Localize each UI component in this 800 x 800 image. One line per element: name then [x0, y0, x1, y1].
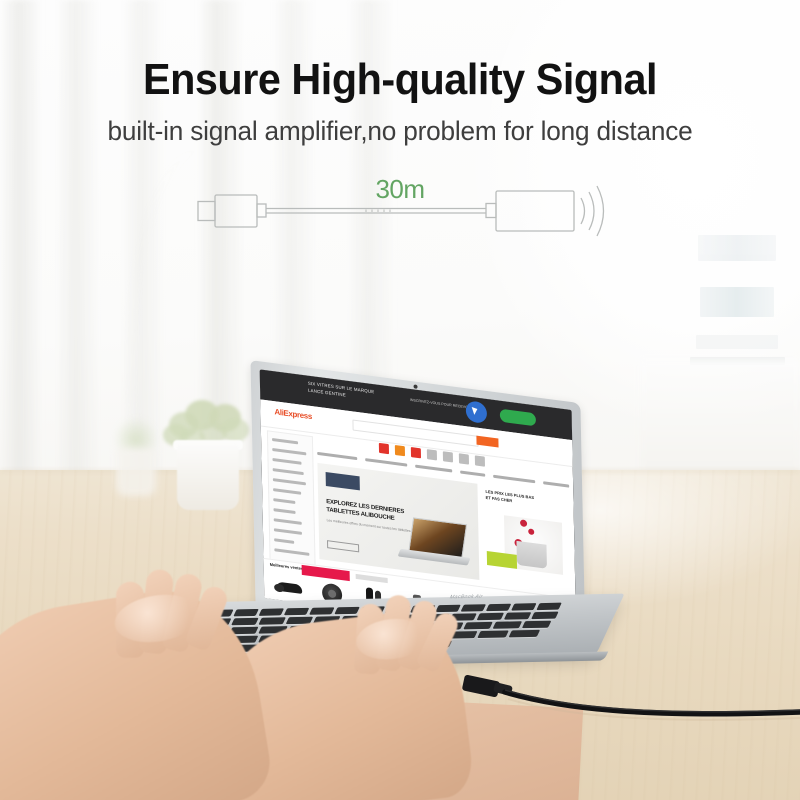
marketing-image: SIX VITRES SUR LE MARQUELANCE GENTINE IN… [0, 0, 800, 800]
usb-plug-body [215, 195, 257, 227]
cable-diagram-svg [190, 178, 610, 252]
signal-wave-arcs [581, 186, 604, 236]
hero-button[interactable] [327, 540, 359, 552]
hero-banner[interactable]: EXPLOREZ LES DERNIERESTABLETTES ALIBOUCH… [317, 463, 479, 580]
side-ad-bucket [516, 541, 546, 569]
amplifier-ticks [366, 210, 390, 213]
site-logo[interactable]: AliExpress [274, 407, 312, 421]
usb-plug-tip [198, 202, 215, 221]
webcam-icon [413, 384, 417, 389]
category-sidebar[interactable] [267, 430, 316, 566]
list-item[interactable] [272, 574, 308, 603]
side-ad-text: LES PRIX LES PLUS BASET PAS CHER [485, 489, 534, 507]
strip-tab-label: Meilleures ventes [270, 562, 303, 571]
side-ad-green-tag [487, 551, 517, 569]
amplifier-box [496, 191, 574, 231]
banner-cta-button[interactable] [500, 409, 536, 427]
side-ad[interactable]: LES PRIX LES PLUS BASET PAS CHER [481, 484, 569, 591]
hero-brand-tag [326, 472, 360, 490]
banner-headline: SIX VITRES SUR LE MARQUELANCE GENTINE [308, 381, 375, 403]
amplifier-neck [486, 204, 496, 218]
strip-plain-tab[interactable] [356, 574, 388, 583]
cable-diagram: 30m [190, 178, 610, 252]
page-subtitle: built-in signal amplifier,no problem for… [12, 116, 788, 147]
cursor-circle-icon [466, 400, 487, 424]
black-cable [0, 600, 800, 800]
strip-highlight-tab[interactable] [302, 565, 350, 581]
usb-plug-neck [257, 204, 266, 217]
hero-laptop-image [396, 515, 469, 573]
page-title: Ensure High-quality Signal [24, 55, 776, 105]
search-button[interactable] [476, 436, 498, 448]
banner-note: INSCRIVEZ-VOUS POUR RECEVOIR [410, 398, 472, 411]
